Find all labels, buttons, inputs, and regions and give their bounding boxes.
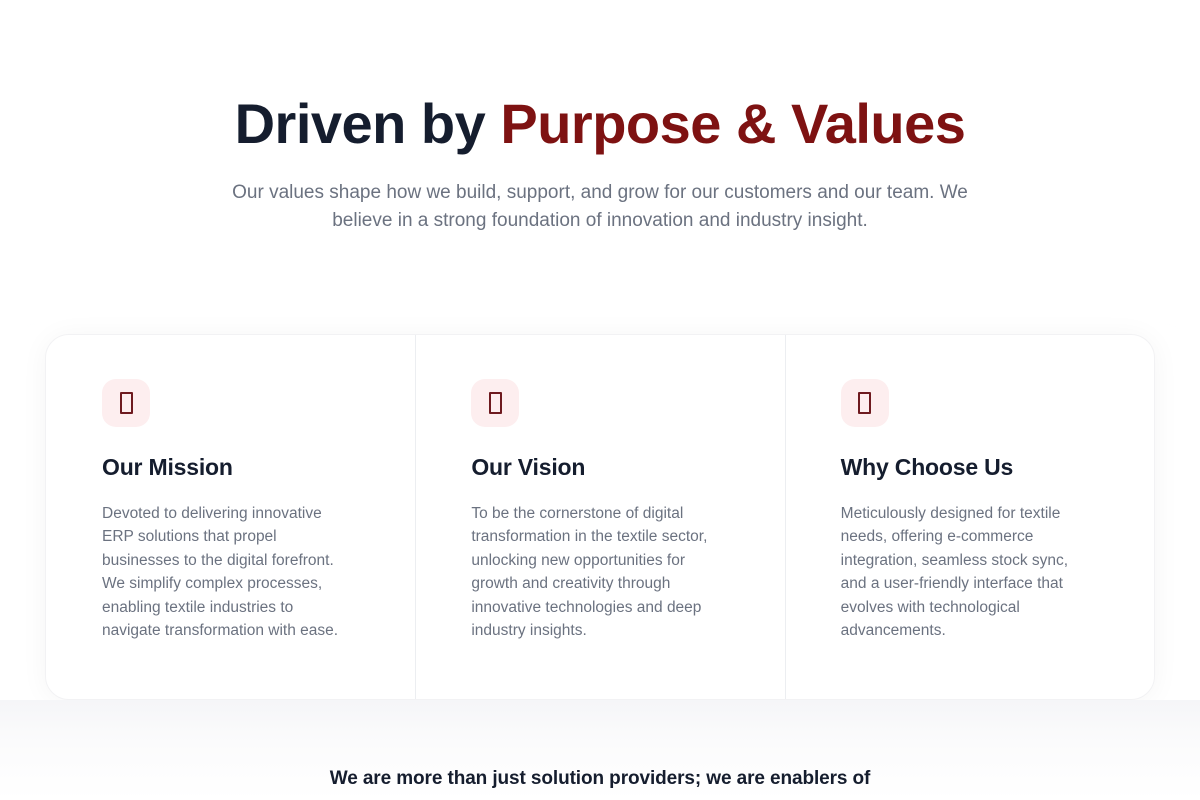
missing-glyph-icon xyxy=(102,379,150,427)
missing-glyph-icon xyxy=(471,379,519,427)
values-page: Driven by Purpose & Values Our values sh… xyxy=(0,0,1200,800)
closing-statement: We are more than just solution providers… xyxy=(0,768,1200,790)
card-body: Devoted to delivering innovative ERP sol… xyxy=(102,502,350,643)
card-body: Meticulously designed for textile needs,… xyxy=(841,502,1089,643)
value-card-mission[interactable]: Our Mission Devoted to delivering innova… xyxy=(46,335,415,699)
missing-glyph-box xyxy=(120,392,133,414)
hero-section: Driven by Purpose & Values Our values sh… xyxy=(0,0,1200,235)
page-title-lead: Driven by xyxy=(235,92,501,155)
hero-subtitle: Our values shape how we build, support, … xyxy=(220,179,980,235)
card-title: Our Vision xyxy=(471,453,728,482)
card-body: To be the cornerstone of digital transfo… xyxy=(471,502,719,643)
page-title-accent: Purpose & Values xyxy=(500,92,965,155)
card-title: Why Choose Us xyxy=(841,453,1098,482)
value-card-vision[interactable]: Our Vision To be the cornerstone of digi… xyxy=(415,335,784,699)
values-cards-container: Our Mission Devoted to delivering innova… xyxy=(45,334,1155,700)
missing-glyph-box xyxy=(858,392,871,414)
values-cards-wrapper: Our Mission Devoted to delivering innova… xyxy=(45,334,1155,700)
missing-glyph-icon xyxy=(841,379,889,427)
missing-glyph-box xyxy=(489,392,502,414)
value-card-why-choose-us[interactable]: Why Choose Us Meticulously designed for … xyxy=(785,335,1154,699)
card-title: Our Mission xyxy=(102,453,359,482)
page-title: Driven by Purpose & Values xyxy=(0,92,1200,157)
